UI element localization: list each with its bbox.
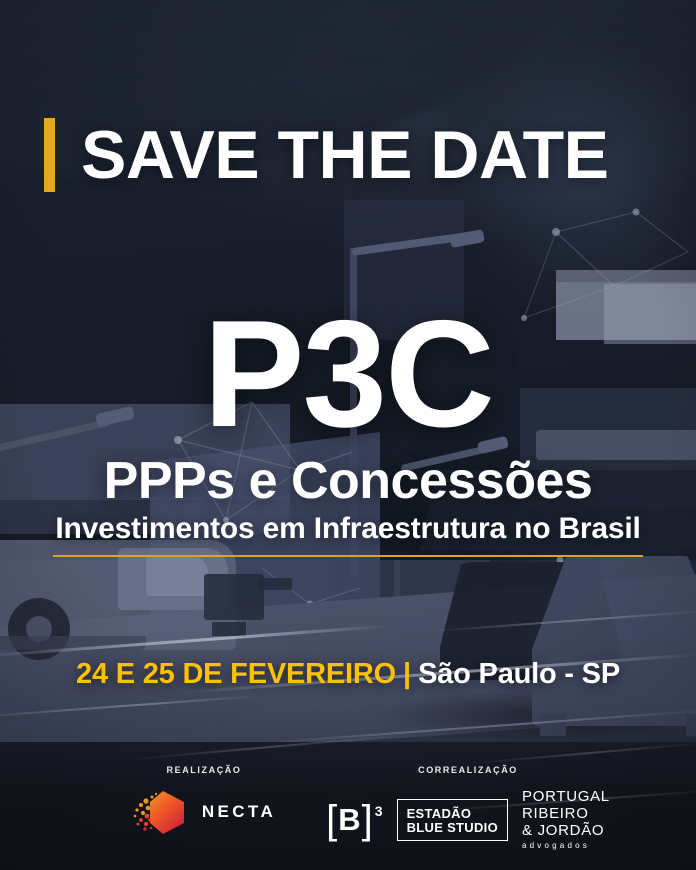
necta-hexagon-icon (132, 789, 190, 835)
correalizacao-label: CORREALIZAÇÃO (318, 765, 618, 775)
event-subtitle-wrapper: Investimentos em Infraestrutura no Brasi… (0, 512, 696, 557)
headline: SAVE THE DATE (81, 121, 608, 189)
event-name: PPPs e Concessões (0, 455, 696, 507)
save-the-date-row: SAVE THE DATE (44, 118, 608, 192)
b3-superscript: 3 (375, 804, 383, 818)
save-the-date-poster: SAVE THE DATE P3C PPPs e Concessões Inve… (0, 0, 696, 870)
credits-section: REALIZAÇÃO (0, 765, 696, 870)
realizacao-group: REALIZAÇÃO (104, 765, 304, 835)
event-location: São Paulo - SP (418, 658, 620, 690)
necta-logo: NECTA (132, 789, 276, 835)
estadao-blue-studio-logo: ESTADÃO BLUE STUDIO (397, 799, 508, 842)
b3-bracket-close: ] (362, 802, 373, 839)
date-location-row: 24 E 25 DE FEVEREIRO|São Paulo - SP (0, 660, 696, 689)
estadao-line-1: ESTADÃO (407, 807, 498, 821)
correalizacao-group: CORREALIZAÇÃO [ B ] 3 ESTADÃO BLUE STUDI… (318, 765, 618, 851)
correalizacao-logos: [ B ] 3 ESTADÃO BLUE STUDIO PORTUGAL RIB… (318, 789, 618, 851)
b3-bracket-open: [ (326, 802, 337, 839)
necta-wordmark: NECTA (202, 802, 276, 822)
prj-line-4: advogados (522, 842, 610, 851)
prj-line-1: PORTUGAL (522, 789, 610, 806)
prj-line-2: RIBEIRO (522, 806, 610, 823)
event-acronym: P3C (0, 298, 696, 450)
event-date: 24 E 25 DE FEVEREIRO (76, 658, 396, 690)
b3-logo: [ B ] 3 (326, 802, 382, 839)
date-location-separator: | (403, 658, 411, 690)
b3-letter: B (338, 802, 360, 839)
event-subtitle: Investimentos em Infraestrutura no Brasi… (53, 512, 642, 557)
prj-line-3: & JORDÃO (522, 823, 610, 840)
estadao-line-2: BLUE STUDIO (407, 821, 498, 835)
poster-content: SAVE THE DATE P3C PPPs e Concessões Inve… (0, 0, 696, 870)
gold-accent-bar (44, 118, 55, 192)
portugal-ribeiro-jordao-logo: PORTUGAL RIBEIRO & JORDÃO advogados (522, 789, 610, 851)
realizacao-logos: NECTA (104, 789, 304, 835)
realizacao-label: REALIZAÇÃO (104, 765, 304, 775)
